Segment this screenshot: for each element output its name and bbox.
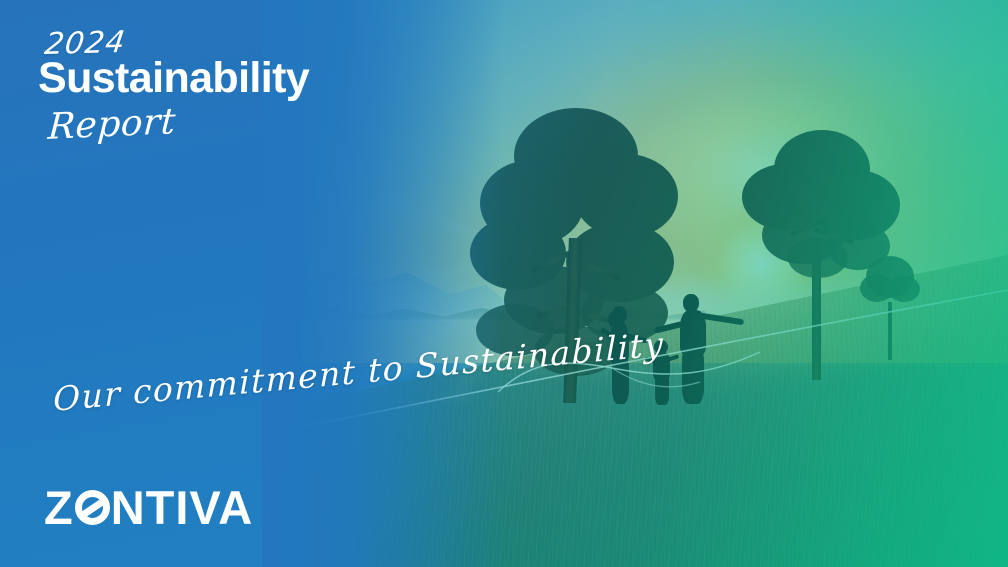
tagline: Our commitment to Sustainability (53, 324, 664, 419)
logo-e-icon (75, 490, 110, 525)
page-subtitle: Report (47, 101, 177, 148)
zentiva-logo: Z NTIVA (44, 484, 253, 531)
logo-text-right: NTIVA (111, 484, 254, 531)
report-cover: 2024 Sustainability Report Our commitmen… (0, 0, 1008, 567)
page-title: Sustainability (38, 57, 309, 100)
text-layer: 2024 Sustainability Report Our commitmen… (0, 0, 1008, 567)
logo-text-left: Z (44, 484, 74, 531)
